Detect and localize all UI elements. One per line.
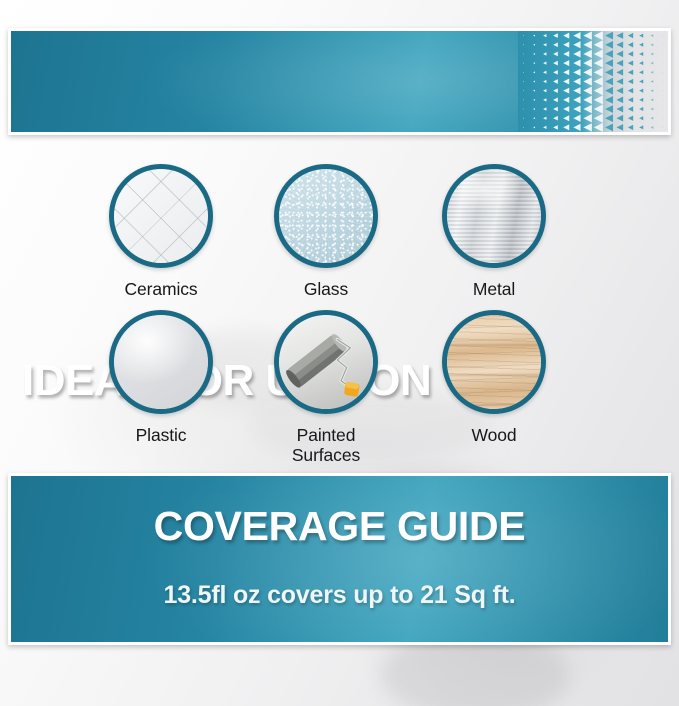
surface-item-painted-surfaces[interactable]: Painted Surfaces xyxy=(246,310,406,466)
surface-label: Plastic xyxy=(81,425,241,445)
header-banner xyxy=(8,28,671,135)
surface-item-ceramics[interactable]: Ceramics xyxy=(81,164,241,299)
surface-label: Metal xyxy=(414,279,574,299)
metal-swatch-icon xyxy=(442,164,546,268)
coverage-subtitle: 13.5fl oz covers up to 21 Sq ft. xyxy=(11,583,668,608)
surface-label: Painted Surfaces xyxy=(246,425,406,466)
painted-surfaces-swatch-icon xyxy=(274,310,378,414)
paint-roller-icon xyxy=(279,315,373,409)
wood-swatch-icon xyxy=(442,310,546,414)
coverage-title: COVERAGE GUIDE xyxy=(11,506,668,547)
surface-item-wood[interactable]: Wood xyxy=(414,310,574,445)
plastic-swatch-icon xyxy=(109,310,213,414)
surface-item-glass[interactable]: Glass xyxy=(246,164,406,299)
infographic-page: IDEAL FOR USE ON Ceramics Glass Metal Pl… xyxy=(0,0,679,706)
glass-swatch-icon xyxy=(274,164,378,268)
ceramics-swatch-icon xyxy=(109,164,213,268)
surface-item-plastic[interactable]: Plastic xyxy=(81,310,241,445)
triangle-halftone-pattern-icon xyxy=(518,31,668,132)
surface-label: Glass xyxy=(246,279,406,299)
coverage-banner-sheen xyxy=(11,476,668,642)
coverage-banner: COVERAGE GUIDE 13.5fl oz covers up to 21… xyxy=(8,473,671,645)
surface-item-metal[interactable]: Metal xyxy=(414,164,574,299)
surface-label: Wood xyxy=(414,425,574,445)
surface-label: Ceramics xyxy=(81,279,241,299)
